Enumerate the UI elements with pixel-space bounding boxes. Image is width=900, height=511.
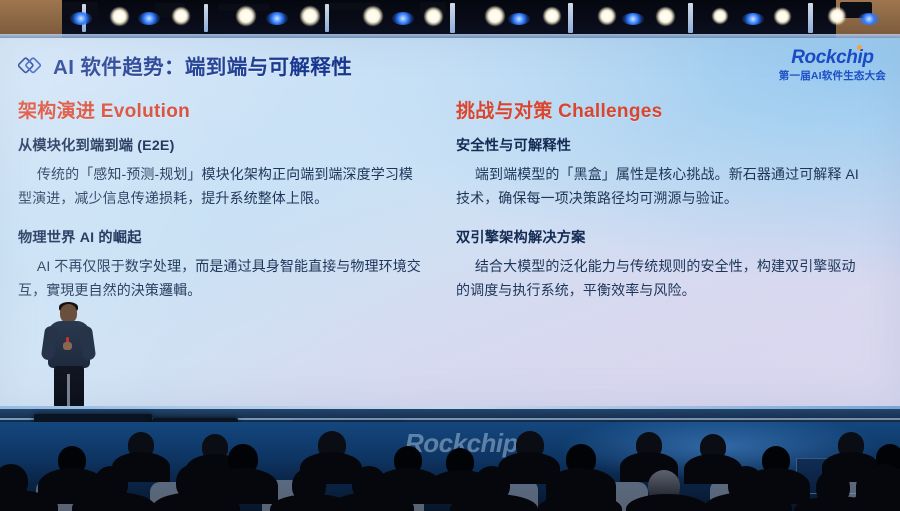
presenter-figure [38,304,100,408]
block-subheading: 物理世界 AI 的崛起 [18,227,426,247]
audience-area [0,430,900,511]
spotlight-11 [712,8,728,24]
column-evolution: 架构演进 Evolution 从模块化到端到端 (E2E) 传统的「感知-预测-… [0,96,436,318]
logo-dot-icon [857,45,862,50]
blue-wash-light-7 [742,13,764,25]
block-subheading: 双引擎架构解决方案 [456,227,862,247]
blue-wash-light-5 [508,13,530,25]
section-heading-en: Challenges [558,101,662,122]
stage-edge-highlight [0,406,900,409]
presentation-slide: AI 软件趋势：端到端与可解释性 Rockchip 第一届AI软件生态大会 架构… [0,38,900,406]
blue-wash-light-6 [622,13,644,25]
content-block: 双引擎架构解决方案 结合大模型的泛化能力与传统规则的安全性，构建双引擎驱动的调度… [456,227,862,303]
spotlight-7 [485,6,505,26]
blue-wash-light-2 [138,12,160,25]
ai-diamond-icon [18,54,44,76]
section-heading-challenges: 挑战与对策 Challenges [456,96,862,123]
led-bar-3 [325,4,329,32]
led-bar-6 [688,3,693,33]
block-body: 传统的「感知-预测-规划」模块化架构正向端到端深度学习模型演进，减少信息传递损耗… [18,162,426,211]
presenter-hands [63,342,72,350]
section-heading-cn: 挑战与对策 [456,101,553,122]
slide-title-row: AI 软件趋势：端到端与可解释性 [18,50,352,80]
page-title: AI 软件趋势：端到端与可解释性 [53,50,352,80]
spotlight-2 [172,7,190,25]
led-bar-5 [568,3,573,33]
block-body: 结合大模型的泛化能力与传统规则的安全性，构建双引擎驱动的调度与执行系统，平衡效率… [456,254,862,303]
blue-wash-light-1 [70,12,92,25]
section-heading-cn: 架构演进 [18,101,95,122]
spotlight-4 [300,6,320,26]
conference-subtitle: 第一届AI软件生态大会 [779,71,886,82]
brand-block: Rockchip 第一届AI软件生态大会 [779,48,886,82]
presenter-leg-gap [67,374,70,408]
blue-wash-light-3 [266,12,288,25]
spotlight-3 [236,6,256,26]
led-bar-4 [450,3,455,33]
led-bar-7 [808,3,813,33]
slide-columns: 架构演进 Evolution 从模块化到端到端 (E2E) 传统的「感知-预测-… [0,96,900,318]
content-block: 安全性与可解释性 端到端模型的「黑盒」属性是核心挑战。新石器通过可解释 AI 技… [456,135,862,211]
ceiling-wood-panel-left [0,0,62,38]
blue-wash-light-4 [392,12,414,25]
led-bar-2 [204,4,208,32]
block-body: AI 不再仅限于数字处理，而是通过具身智能直接与物理环境交互，實現更自然的決策邏… [18,254,426,303]
rockchip-logo: Rockchip [791,48,873,67]
section-heading-en: Evolution [101,101,190,122]
block-subheading: 从模块化到端到端 (E2E) [18,135,426,155]
spotlight-1 [110,7,129,26]
block-body: 端到端模型的「黑盒」属性是核心挑战。新石器通过可解释 AI 技术，确保每一项决策… [456,162,862,211]
content-block: 物理世界 AI 的崛起 AI 不再仅限于数字处理，而是通过具身智能直接与物理环境… [18,227,426,303]
rockchip-logo-text: Rockchip [791,47,873,68]
spotlight-5 [363,6,383,26]
section-heading-evolution: 架构演进 Evolution [18,96,426,123]
spotlight-9 [598,7,616,25]
spotlight-10 [656,7,675,26]
spotlight-13 [828,7,846,25]
spotlight-8 [543,7,561,25]
spotlight-6 [424,7,443,26]
projection-screen: AI 软件趋势：端到端与可解释性 Rockchip 第一届AI软件生态大会 架构… [0,38,900,406]
block-subheading: 安全性与可解释性 [456,135,862,155]
blue-wash-light-8 [858,13,880,25]
screenshot-root: AI 软件趋势：端到端与可解释性 Rockchip 第一届AI软件生态大会 架构… [0,0,900,511]
content-block: 从模块化到端到端 (E2E) 传统的「感知-预测-规划」模块化架构正向端到端深度… [18,135,426,211]
ceiling-truss [0,0,900,38]
spotlight-12 [774,8,791,25]
column-challenges: 挑战与对策 Challenges 安全性与可解释性 端到端模型的「黑盒」属性是核… [436,96,872,318]
